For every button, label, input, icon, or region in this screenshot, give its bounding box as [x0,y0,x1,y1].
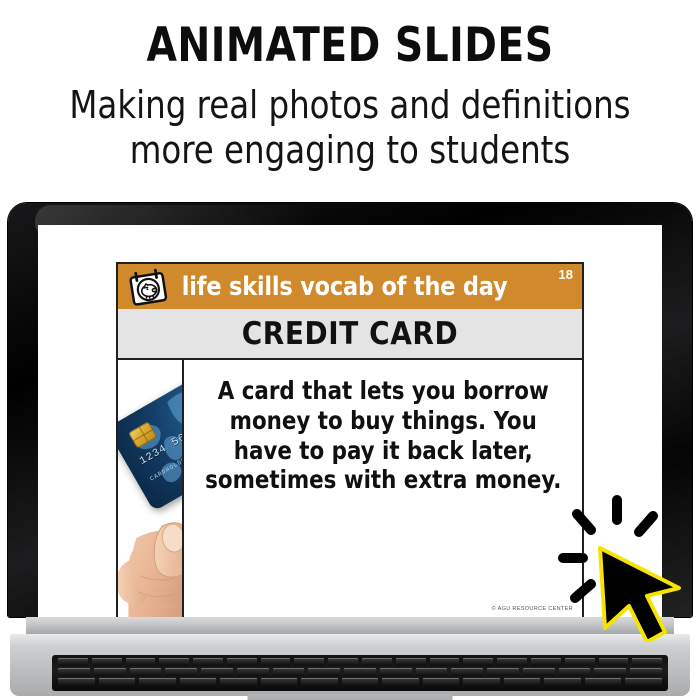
keyboard-row [58,658,662,666]
hand-illustration [118,440,184,617]
keyboard-row [58,678,662,686]
laptop-trackpad [248,694,453,700]
promo-heading-block: ANIMATED SLIDES Making real photos and d… [0,0,700,173]
promo-subtitle: Making real photos and definitions more … [18,83,683,173]
page-title: ANIMATED SLIDES [25,22,676,70]
copyright-notice: © AGU RESOURCE CENTER [492,606,573,612]
vocab-definition-text: A card that lets you borrow money to buy… [201,376,564,495]
laptop-base [0,617,700,700]
hand-holding-credit-card-photo: 1234 5678 9012 3456 CARDHOLDER NAME 07/2… [118,364,182,617]
vocab-photo-panel: 1234 5678 9012 3456 CARDHOLDER NAME 07/2… [118,360,184,617]
laptop-screen: life skills vocab of the day 18 CREDIT C… [38,225,662,617]
vocab-slide-card: life skills vocab of the day 18 CREDIT C… [116,262,584,617]
calendar-piggy-bank-icon [127,267,170,306]
promo-subtitle-line-1: Making real photos and definitions [18,83,683,128]
slide-banner-text: life skills vocab of the day [182,272,508,302]
slide-banner: life skills vocab of the day 18 [118,264,582,309]
laptop-deck [10,634,690,696]
laptop-lid: life skills vocab of the day 18 CREDIT C… [8,203,692,617]
vocab-word-title: CREDIT CARD [242,316,459,352]
laptop-keyboard [52,655,668,691]
slide-title-bar: CREDIT CARD [118,309,582,360]
keyboard-row [58,668,662,676]
promo-subtitle-line-2: more engaging to students [18,128,683,173]
vocab-definition-panel: A card that lets you borrow money to buy… [184,360,582,617]
promo-graphic: ANIMATED SLIDES Making real photos and d… [0,0,700,700]
slide-body: 1234 5678 9012 3456 CARDHOLDER NAME 07/2… [118,360,582,617]
slide-number-badge: 18 [559,267,573,282]
